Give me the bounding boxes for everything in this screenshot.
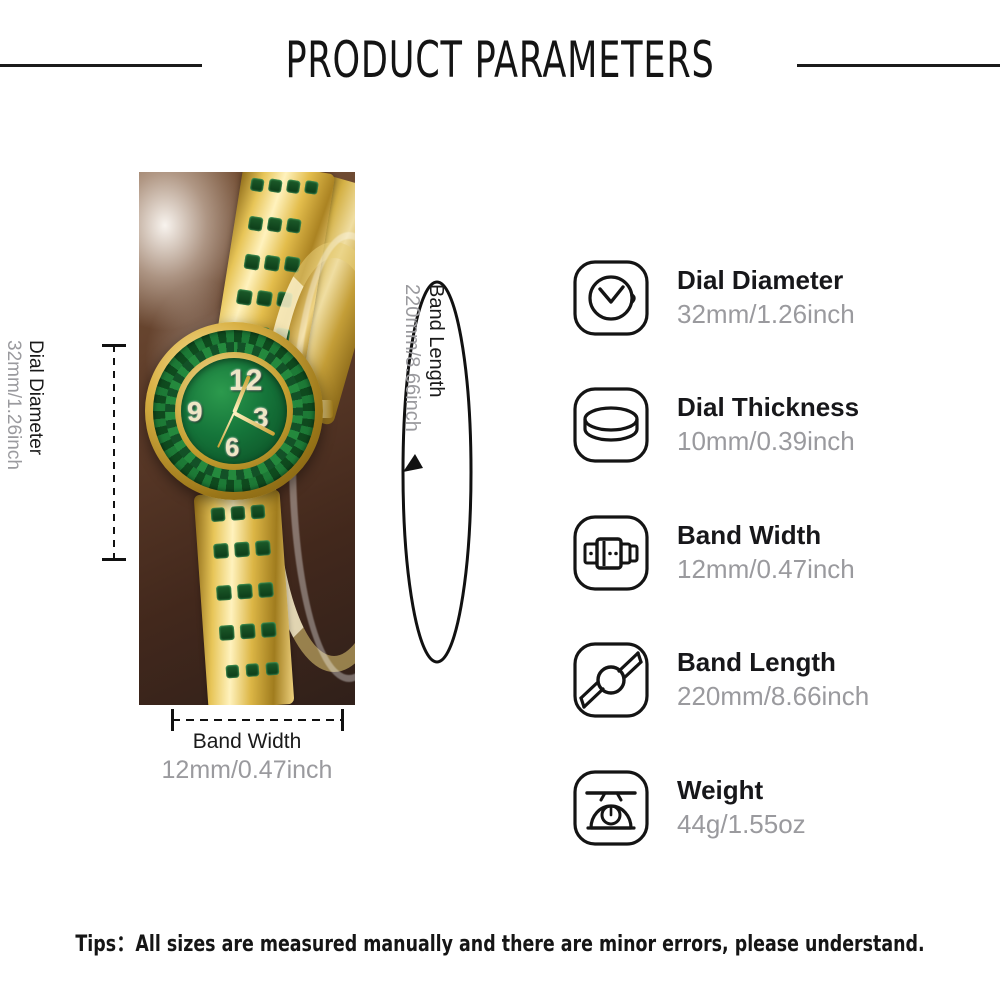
dial-diameter-cap-top <box>102 344 126 347</box>
spec-row-band-width: Band Width 12mm/0.47inch <box>571 513 855 593</box>
product-photo: 12 9 3 6 <box>139 172 355 705</box>
band-length-annotation-text: Band Length 220mm/8.66inch <box>400 284 448 664</box>
buckle-icon <box>571 513 651 593</box>
band-width-annotation-label: Band Width <box>139 730 355 754</box>
disc-thickness-icon <box>571 385 651 465</box>
dial-diameter-measure-line <box>113 345 115 560</box>
spec-row-dial-diameter: Dial Diameter 32mm/1.26inch <box>571 258 855 338</box>
spec-value-dial-diameter: 32mm/1.26inch <box>677 298 855 331</box>
spec-label-weight: Weight <box>677 775 806 806</box>
dial-diameter-cap-bottom <box>102 558 126 561</box>
spec-label-dial-diameter: Dial Diameter <box>677 265 855 296</box>
spec-row-weight: Weight 44g/1.55oz <box>571 768 806 848</box>
spec-value-band-width: 12mm/0.47inch <box>677 553 855 586</box>
band-length-annotation-value: 220mm/8.66inch <box>400 284 424 664</box>
watch-case: 12 9 3 6 <box>145 322 323 500</box>
spec-row-band-length: Band Length 220mm/8.66inch <box>571 640 869 720</box>
kitchen-scale-icon <box>571 768 651 848</box>
infographic-canvas: PRODUCT PARAMETERS <box>0 0 1000 1000</box>
spec-label-dial-thickness: Dial Thickness <box>677 392 859 423</box>
band-width-measure-line <box>172 719 342 721</box>
spec-row-dial-thickness: Dial Thickness 10mm/0.39inch <box>571 385 859 465</box>
dial-diameter-annotation: Dial Diameter 32mm/1.26inch <box>1 340 46 570</box>
band-length-annotation: Band Length 220mm/8.66inch <box>398 276 476 668</box>
dial-number-9: 9 <box>187 396 203 428</box>
spec-label-band-width: Band Width <box>677 520 855 551</box>
watch-strap-icon <box>571 640 651 720</box>
spec-value-weight: 44g/1.55oz <box>677 808 806 841</box>
tips-note: Tips：All sizes are measured manually and… <box>60 926 940 958</box>
watch-dial: 12 9 3 6 <box>181 358 287 464</box>
band-length-annotation-label: Band Length <box>424 284 448 664</box>
bracelet-lower <box>194 489 295 705</box>
band-width-cap-right <box>341 709 344 731</box>
dial-number-6: 6 <box>225 432 239 463</box>
dial-diameter-annotation-label: Dial Diameter <box>24 340 46 570</box>
spec-value-band-length: 220mm/8.66inch <box>677 680 869 713</box>
dial-diameter-annotation-value: 32mm/1.26inch <box>1 340 23 570</box>
watch-dial-icon <box>571 258 651 338</box>
band-width-cap-left <box>171 709 174 731</box>
spec-value-dial-thickness: 10mm/0.39inch <box>677 425 859 458</box>
spec-label-band-length: Band Length <box>677 647 869 678</box>
band-width-annotation-value: 12mm/0.47inch <box>129 756 365 785</box>
page-title: PRODUCT PARAMETERS <box>110 31 890 89</box>
